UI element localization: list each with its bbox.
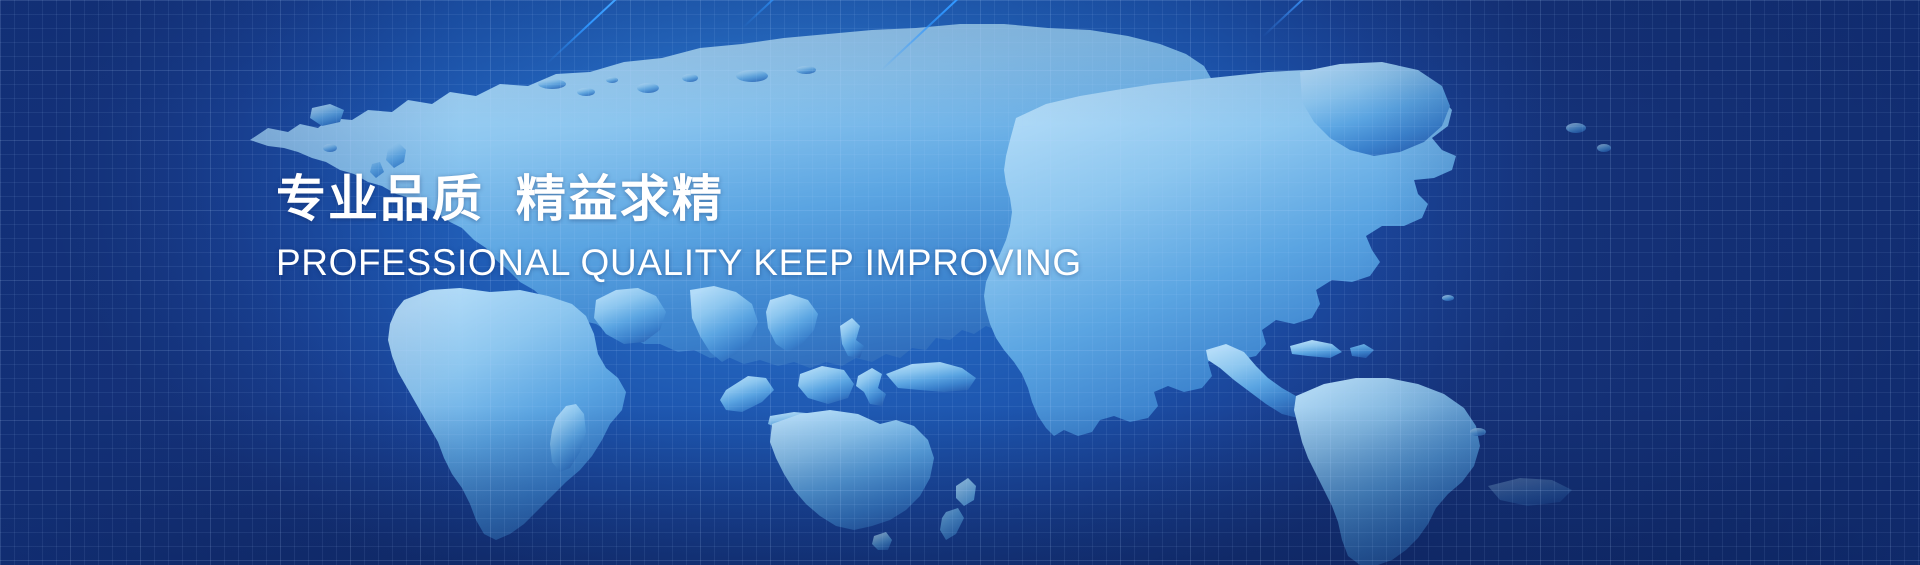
australia-landmass bbox=[770, 410, 934, 530]
madagascar bbox=[550, 404, 586, 472]
central-america bbox=[1206, 344, 1306, 418]
antarctic-fragment bbox=[1488, 478, 1572, 506]
landmass-group bbox=[250, 24, 1611, 565]
greenland bbox=[1300, 62, 1450, 156]
arabian-peninsula bbox=[594, 288, 666, 344]
headline-english: PROFESSIONAL QUALITY KEEP IMPROVING bbox=[276, 229, 1276, 284]
java bbox=[768, 412, 832, 432]
headline-chinese: 专业品质 精益求精 bbox=[276, 170, 1276, 229]
headline-block: 专业品质 精益求精 PROFESSIONAL QUALITY KEEP IMPR… bbox=[276, 170, 1276, 284]
iceland bbox=[310, 104, 344, 126]
caribbean-islands bbox=[1290, 340, 1374, 358]
south-america-landmass bbox=[1294, 378, 1480, 565]
kamchatka-region bbox=[1140, 106, 1184, 180]
tasmania bbox=[872, 532, 892, 550]
diagonal-streak-2-icon bbox=[742, 0, 831, 28]
sumatra bbox=[720, 376, 774, 412]
philippines bbox=[840, 318, 864, 358]
africa-landmass bbox=[388, 288, 626, 540]
diagonal-streak-1-icon bbox=[546, 0, 645, 64]
sulawesi bbox=[856, 368, 886, 406]
diagonal-streak-3-icon bbox=[880, 0, 1051, 71]
new-guinea bbox=[886, 362, 976, 392]
india-subcontinent bbox=[690, 286, 758, 362]
indochina-peninsula bbox=[766, 294, 818, 352]
hero-banner: 专业品质 精益求精 PROFESSIONAL QUALITY KEEP IMPR… bbox=[0, 0, 1920, 565]
new-zealand bbox=[940, 478, 976, 540]
diagonal-streak-4-icon bbox=[1262, 0, 1323, 37]
borneo bbox=[798, 366, 854, 404]
